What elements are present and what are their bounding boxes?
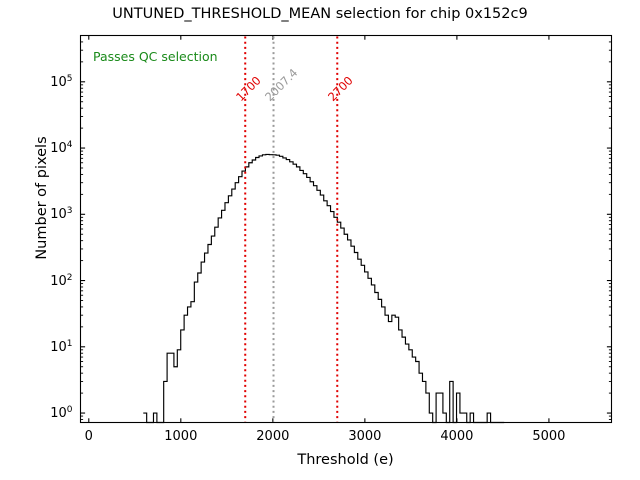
qc-selection-annotation: Passes QC selection — [93, 49, 218, 64]
x-tick-label-1000: 1000 — [164, 429, 197, 444]
histogram-step-outline — [143, 154, 504, 422]
y-tick-label-10e2: 102 — [31, 272, 73, 288]
x-tick-label-2000: 2000 — [256, 429, 289, 444]
axes-frame — [81, 36, 612, 423]
y-tick-label-10e3: 103 — [31, 206, 73, 222]
y-tick-label-10e5: 105 — [31, 74, 73, 90]
threshold-marker-lines — [245, 37, 337, 422]
x-tick-label-3000: 3000 — [348, 429, 381, 444]
x-tick-label-0: 0 — [85, 429, 93, 444]
y-tick-label-10e1: 101 — [31, 339, 73, 355]
x-tick-label-4000: 4000 — [440, 429, 473, 444]
matplotlib-figure: UNTUNED_THRESHOLD_MEAN selection for chi… — [0, 0, 640, 480]
x-axis-ticks — [89, 36, 549, 423]
y-tick-label-10e0: 100 — [31, 405, 73, 421]
plot-canvas — [0, 0, 640, 480]
y-axis-ticks — [81, 42, 612, 420]
x-tick-label-5000: 5000 — [532, 429, 565, 444]
y-tick-label-10e4: 104 — [31, 140, 73, 156]
